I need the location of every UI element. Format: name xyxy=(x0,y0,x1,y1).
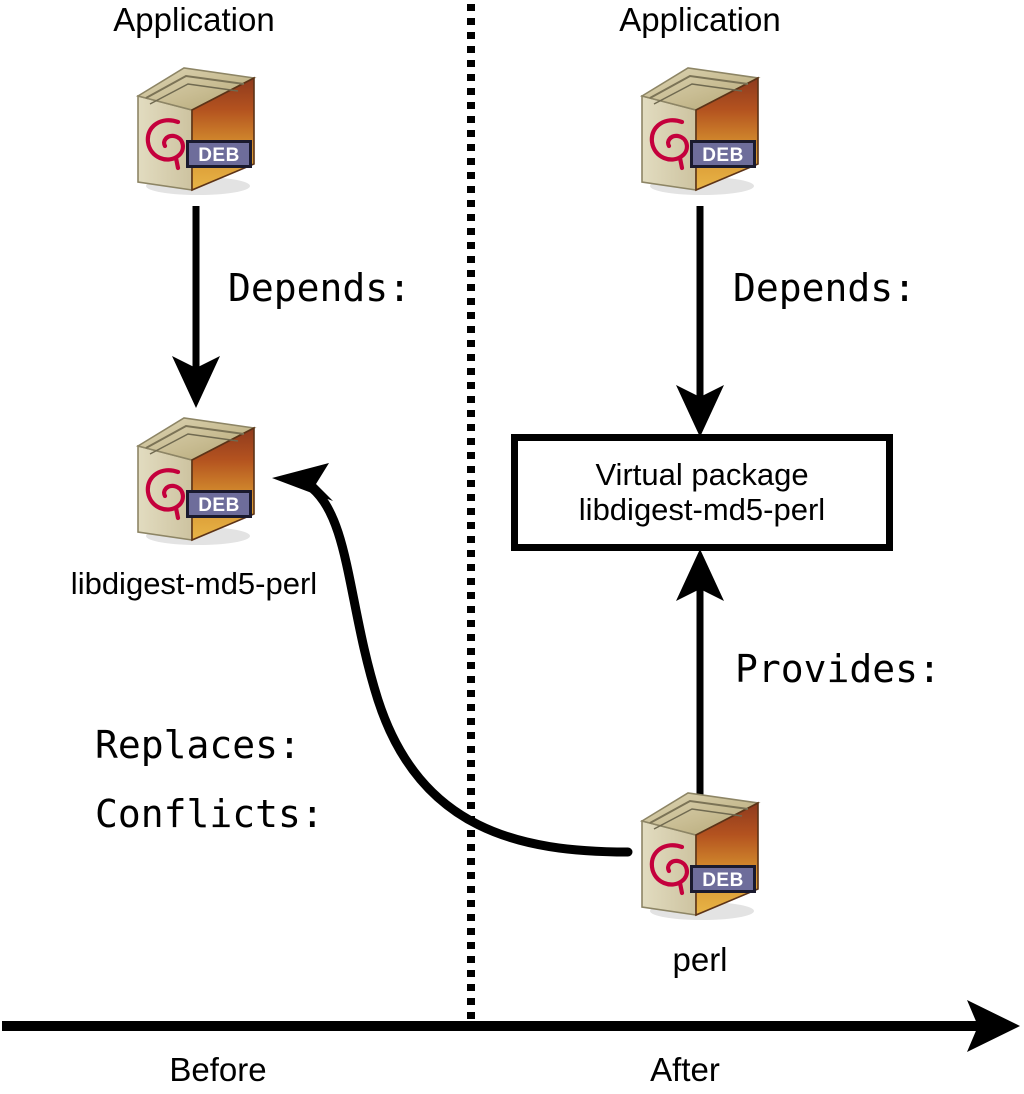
svg-text:DEB: DEB xyxy=(198,495,240,516)
virtual-package-line1: Virtual package xyxy=(595,458,808,493)
svg-text:DEB: DEB xyxy=(702,145,744,166)
svg-text:DEB: DEB xyxy=(198,145,240,166)
replaces-label: Replaces: xyxy=(95,726,301,764)
timeline-before-label: Before xyxy=(169,1053,266,1086)
before-application-package-icon: DEB xyxy=(126,58,266,196)
deb-badge: DEB xyxy=(690,865,756,893)
before-application-label: Application xyxy=(113,3,274,36)
deb-badge: DEB xyxy=(186,490,252,518)
virtual-package-line2: libdigest-md5-perl xyxy=(579,493,825,528)
svg-text:DEB: DEB xyxy=(702,870,744,891)
timeline-axis xyxy=(2,1000,1020,1052)
perl-label: perl xyxy=(672,943,727,976)
conflicts-label: Conflicts: xyxy=(95,795,324,833)
timeline-after-label: After xyxy=(650,1053,720,1086)
libdigest-md5-perl-package-icon: DEB xyxy=(126,408,266,546)
before-depends-label: Depends: xyxy=(228,269,411,307)
libdigest-md5-perl-label: libdigest-md5-perl xyxy=(71,568,317,599)
after-depends-label: Depends: xyxy=(733,269,916,307)
diagram-canvas: DEB DEB xyxy=(0,0,1024,1094)
deb-badge: DEB xyxy=(690,140,756,168)
provides-label: Provides: xyxy=(735,650,941,688)
before-depends-arrow xyxy=(172,206,220,408)
after-depends-arrow xyxy=(676,206,724,437)
deb-badge: DEB xyxy=(186,140,252,168)
virtual-package-box: Virtual package libdigest-md5-perl xyxy=(511,434,893,551)
provides-arrow xyxy=(676,549,724,795)
perl-package-icon: DEB xyxy=(630,783,770,921)
after-application-label: Application xyxy=(619,3,780,36)
after-application-package-icon: DEB xyxy=(630,58,770,196)
